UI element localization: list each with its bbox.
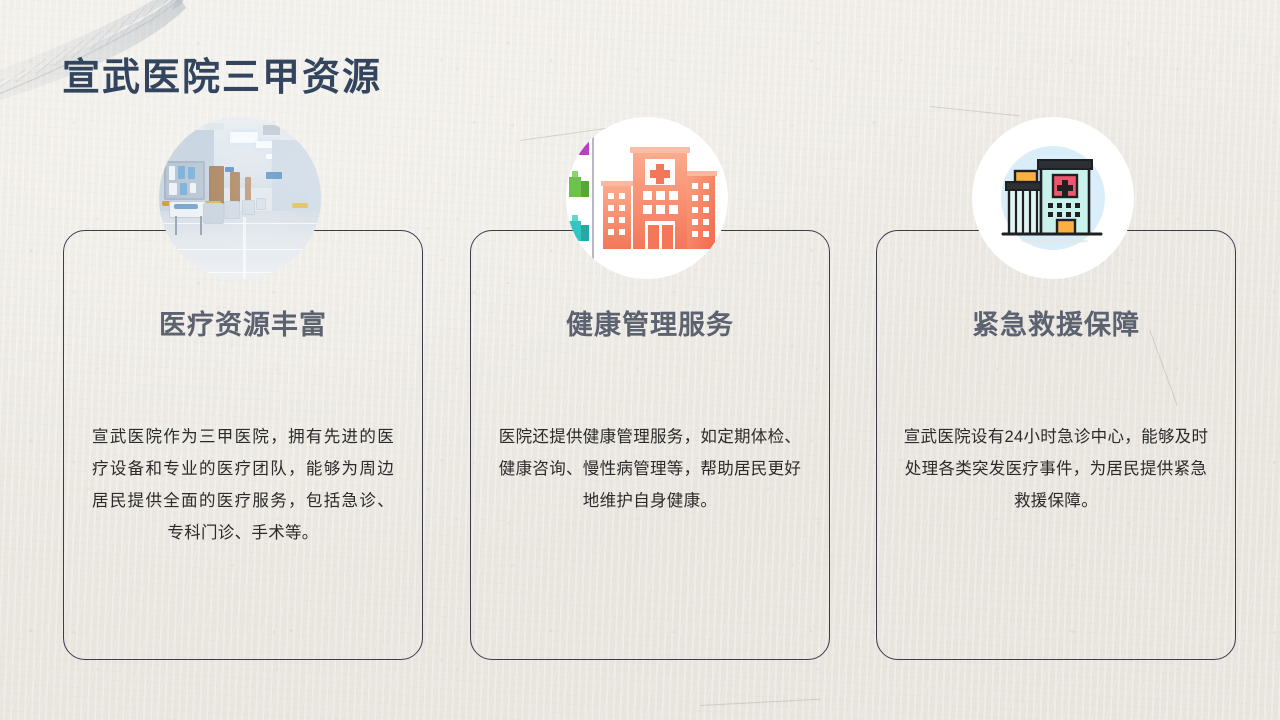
card-body-text: 宣武医院设有24小时急诊中心，能够及时处理各类突发医疗事件，为居民提供紧急救援保…: [903, 421, 1209, 517]
hospital-building-glyph: [601, 145, 717, 251]
card-title: 紧急救援保障: [877, 303, 1235, 342]
flat-hospital-building-icon: [972, 117, 1134, 279]
orange-hospital-building-icon: [566, 117, 728, 279]
hospital-corridor-photo: [159, 117, 321, 279]
card-medical-resources[interactable]: 医疗资源丰富 宣武医院作为三甲医院，拥有先进的医疗设备和专业的医疗团队，能够为周…: [63, 230, 423, 660]
icon-sheet-strip: [566, 117, 592, 279]
paper-scratch: [930, 106, 1020, 116]
page-title: 宣武医院三甲资源: [62, 46, 382, 101]
paper-scratch: [700, 699, 820, 706]
card-title: 医疗资源丰富: [64, 303, 422, 342]
card-body-text: 医院还提供健康管理服务，如定期体检、健康咨询、慢性病管理等，帮助居民更好地维护自…: [497, 421, 803, 517]
card-title: 健康管理服务: [471, 303, 829, 342]
card-health-management[interactable]: 健康管理服务 医院还提供健康管理服务，如定期体检、健康咨询、慢性病管理等，帮助居…: [470, 230, 830, 660]
emergency-hospital-glyph: [1001, 152, 1105, 244]
slide-canvas: 宣武医院三甲资源 医疗资源丰富 宣武医院作为三甲医院，拥有先进的医疗设备和专业的…: [0, 0, 1280, 720]
card-body-text: 宣武医院作为三甲医院，拥有先进的医疗设备和专业的医疗团队，能够为周边居民提供全面…: [92, 421, 394, 549]
card-emergency-rescue[interactable]: 紧急救援保障 宣武医院设有24小时急诊中心，能够及时处理各类突发医疗事件，为居民…: [876, 230, 1236, 660]
